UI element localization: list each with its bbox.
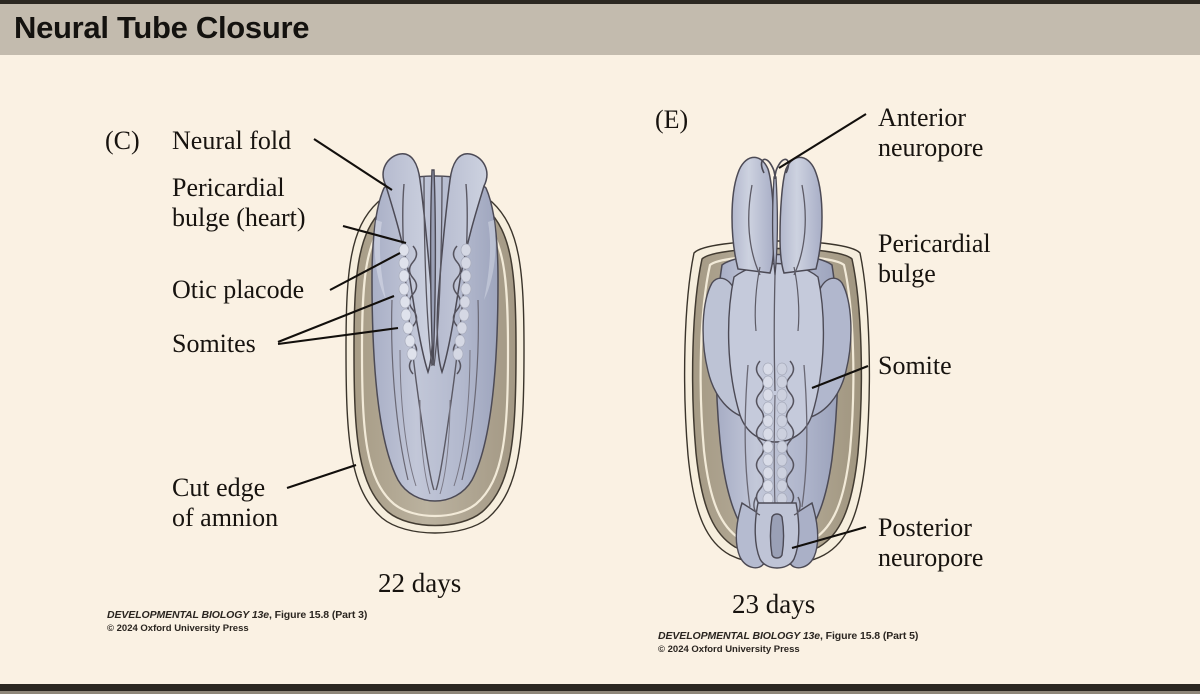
panel-letter-c: (C): [105, 126, 140, 156]
credit-figure-c: , Figure 15.8 (Part 3): [269, 609, 367, 621]
day-caption-panel-e: 23 days: [732, 589, 815, 620]
credit-panel-e: DEVELOPMENTAL BIOLOGY 13e, Figure 15.8 (…: [658, 630, 918, 655]
label-somite: Somite: [878, 351, 952, 381]
label-posterior-neuropore: Posterior neuropore: [878, 513, 983, 573]
label-cut-edge-of-amnion: Cut edge of amnion: [172, 473, 278, 533]
credit-panel-c: DEVELOPMENTAL BIOLOGY 13e, Figure 15.8 (…: [107, 609, 367, 634]
credit-copyright-e: © 2024 Oxford University Press: [658, 644, 918, 655]
slide-header-bar: Neural Tube Closure: [0, 4, 1200, 55]
credit-source-e: DEVELOPMENTAL BIOLOGY 13e: [658, 630, 820, 642]
label-somites: Somites: [172, 329, 256, 359]
credit-copyright-c: © 2024 Oxford University Press: [107, 623, 367, 634]
slide-bottom-edge: [0, 684, 1200, 691]
label-pericardial-bulge-heart: Pericardial bulge (heart): [172, 173, 306, 233]
credit-figure-e: , Figure 15.8 (Part 5): [820, 630, 918, 642]
label-otic-placode: Otic placode: [172, 275, 304, 305]
label-anterior-neuropore: Anterior neuropore: [878, 103, 983, 163]
label-neural-fold: Neural fold: [172, 126, 291, 156]
day-caption-panel-c: 22 days: [378, 568, 461, 599]
panel-letter-e: (E): [655, 105, 688, 135]
embryo-illustration-panel-c: [320, 150, 550, 550]
page-title: Neural Tube Closure: [14, 10, 309, 46]
embryo-illustration-panel-e: [660, 125, 890, 575]
label-pericardial-bulge-e: Pericardial bulge: [878, 229, 991, 289]
credit-source-c: DEVELOPMENTAL BIOLOGY 13e: [107, 609, 269, 621]
slide-canvas: Neural Tube Closure: [0, 0, 1200, 694]
